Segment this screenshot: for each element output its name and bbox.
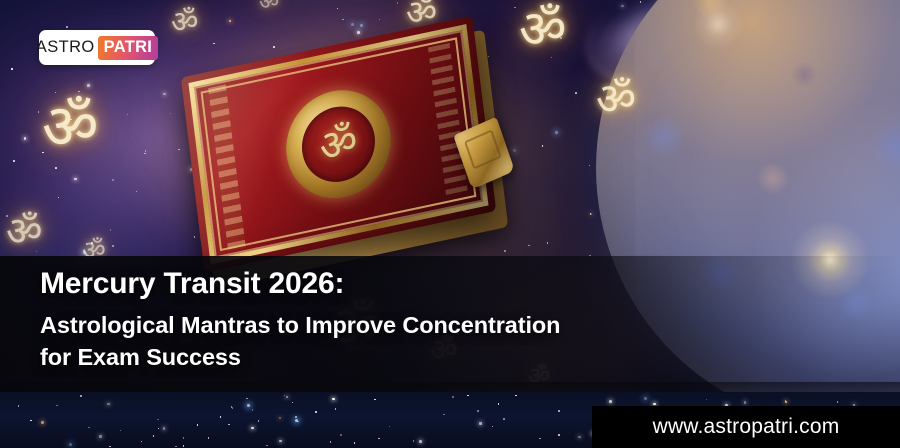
website-url-text: www.astropatri.com bbox=[653, 415, 840, 439]
astropatri-logo[interactable]: ASTRO PATRI bbox=[39, 30, 155, 65]
headline-line-2: Astrological Mantras to Improve Concentr… bbox=[40, 310, 680, 341]
logo-badge-patri: PATRI bbox=[98, 36, 159, 60]
headline-line-3: for Exam Success bbox=[40, 342, 680, 373]
banner-root: ॐॐॐॐॐॐॐॐॐॐॐॐॐ ॐ ASTRO PATRI bbox=[0, 0, 900, 448]
headline-block: Mercury Transit 2026: Astrological Mantr… bbox=[40, 266, 680, 373]
logo-text-astro: ASTRO bbox=[36, 38, 95, 57]
headline-line-1: Mercury Transit 2026: bbox=[40, 266, 680, 301]
bottom-star-field bbox=[0, 0, 900, 448]
website-url-bar[interactable]: www.astropatri.com bbox=[592, 406, 900, 448]
